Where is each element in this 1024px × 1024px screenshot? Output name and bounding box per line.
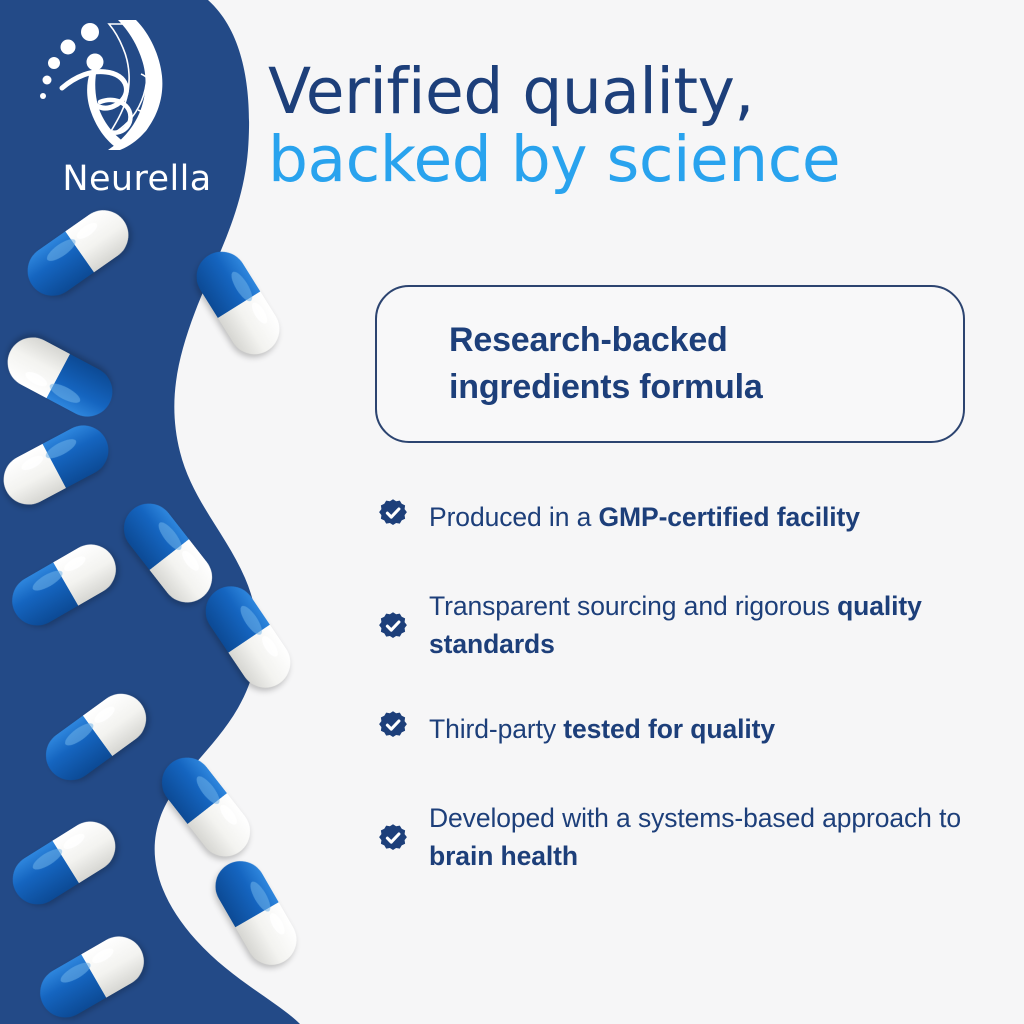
feature-bullet-item: Produced in a GMP-certified facility — [378, 498, 1003, 540]
capsule-pill — [152, 747, 260, 866]
feature-bullet-item: Third-party tested for quality — [378, 710, 1003, 752]
capsule-pill — [3, 812, 124, 914]
feature-bullet-text: Produced in a GMP-certified facility — [429, 498, 860, 537]
capsule-pill — [0, 329, 121, 426]
capsule-pill — [196, 577, 300, 698]
feature-bullet-list: Produced in a GMP-certified facilityTran… — [378, 498, 1003, 876]
capsule-pill — [18, 200, 138, 305]
capsule-pill — [31, 927, 153, 1024]
capsule-pill — [0, 417, 117, 514]
feature-bullet-text: Developed with a systems-based approach … — [429, 799, 1003, 875]
capsule-pill — [187, 242, 289, 363]
feature-bullet-item: Transparent sourcing and rigorous qualit… — [378, 587, 1003, 663]
callout-box: Research-backed ingredients formula — [375, 285, 965, 443]
capsule-pill — [206, 852, 305, 974]
capsule-pill — [114, 493, 222, 612]
brand-logo: Neurella — [28, 14, 246, 214]
verified-check-badge-icon — [378, 611, 408, 641]
capsule-pill — [36, 684, 156, 790]
verified-check-badge-icon — [378, 710, 408, 740]
callout-line-1: Research-backed — [449, 321, 728, 359]
verified-check-badge-icon — [378, 498, 408, 528]
feature-bullet-text: Transparent sourcing and rigorous qualit… — [429, 587, 1003, 663]
callout-line-2: ingredients formula — [449, 368, 763, 406]
callout-text: Research-backed ingredients formula — [377, 317, 763, 411]
brand-wordmark: Neurella — [28, 162, 246, 197]
capsule-pill — [3, 535, 125, 634]
headline-line-2: backed by science — [268, 130, 1013, 190]
feature-bullet-item: Developed with a systems-based approach … — [378, 799, 1003, 875]
page-title: Verified quality, backed by science — [268, 62, 1013, 190]
feature-bullet-text: Third-party tested for quality — [429, 710, 775, 749]
face-profile-neuro-icon — [38, 14, 188, 154]
infographic-canvas: Neurella Verified quality, backed by sci… — [0, 0, 1024, 1024]
verified-check-badge-icon — [378, 823, 408, 853]
headline-line-1: Verified quality, — [268, 62, 1013, 122]
